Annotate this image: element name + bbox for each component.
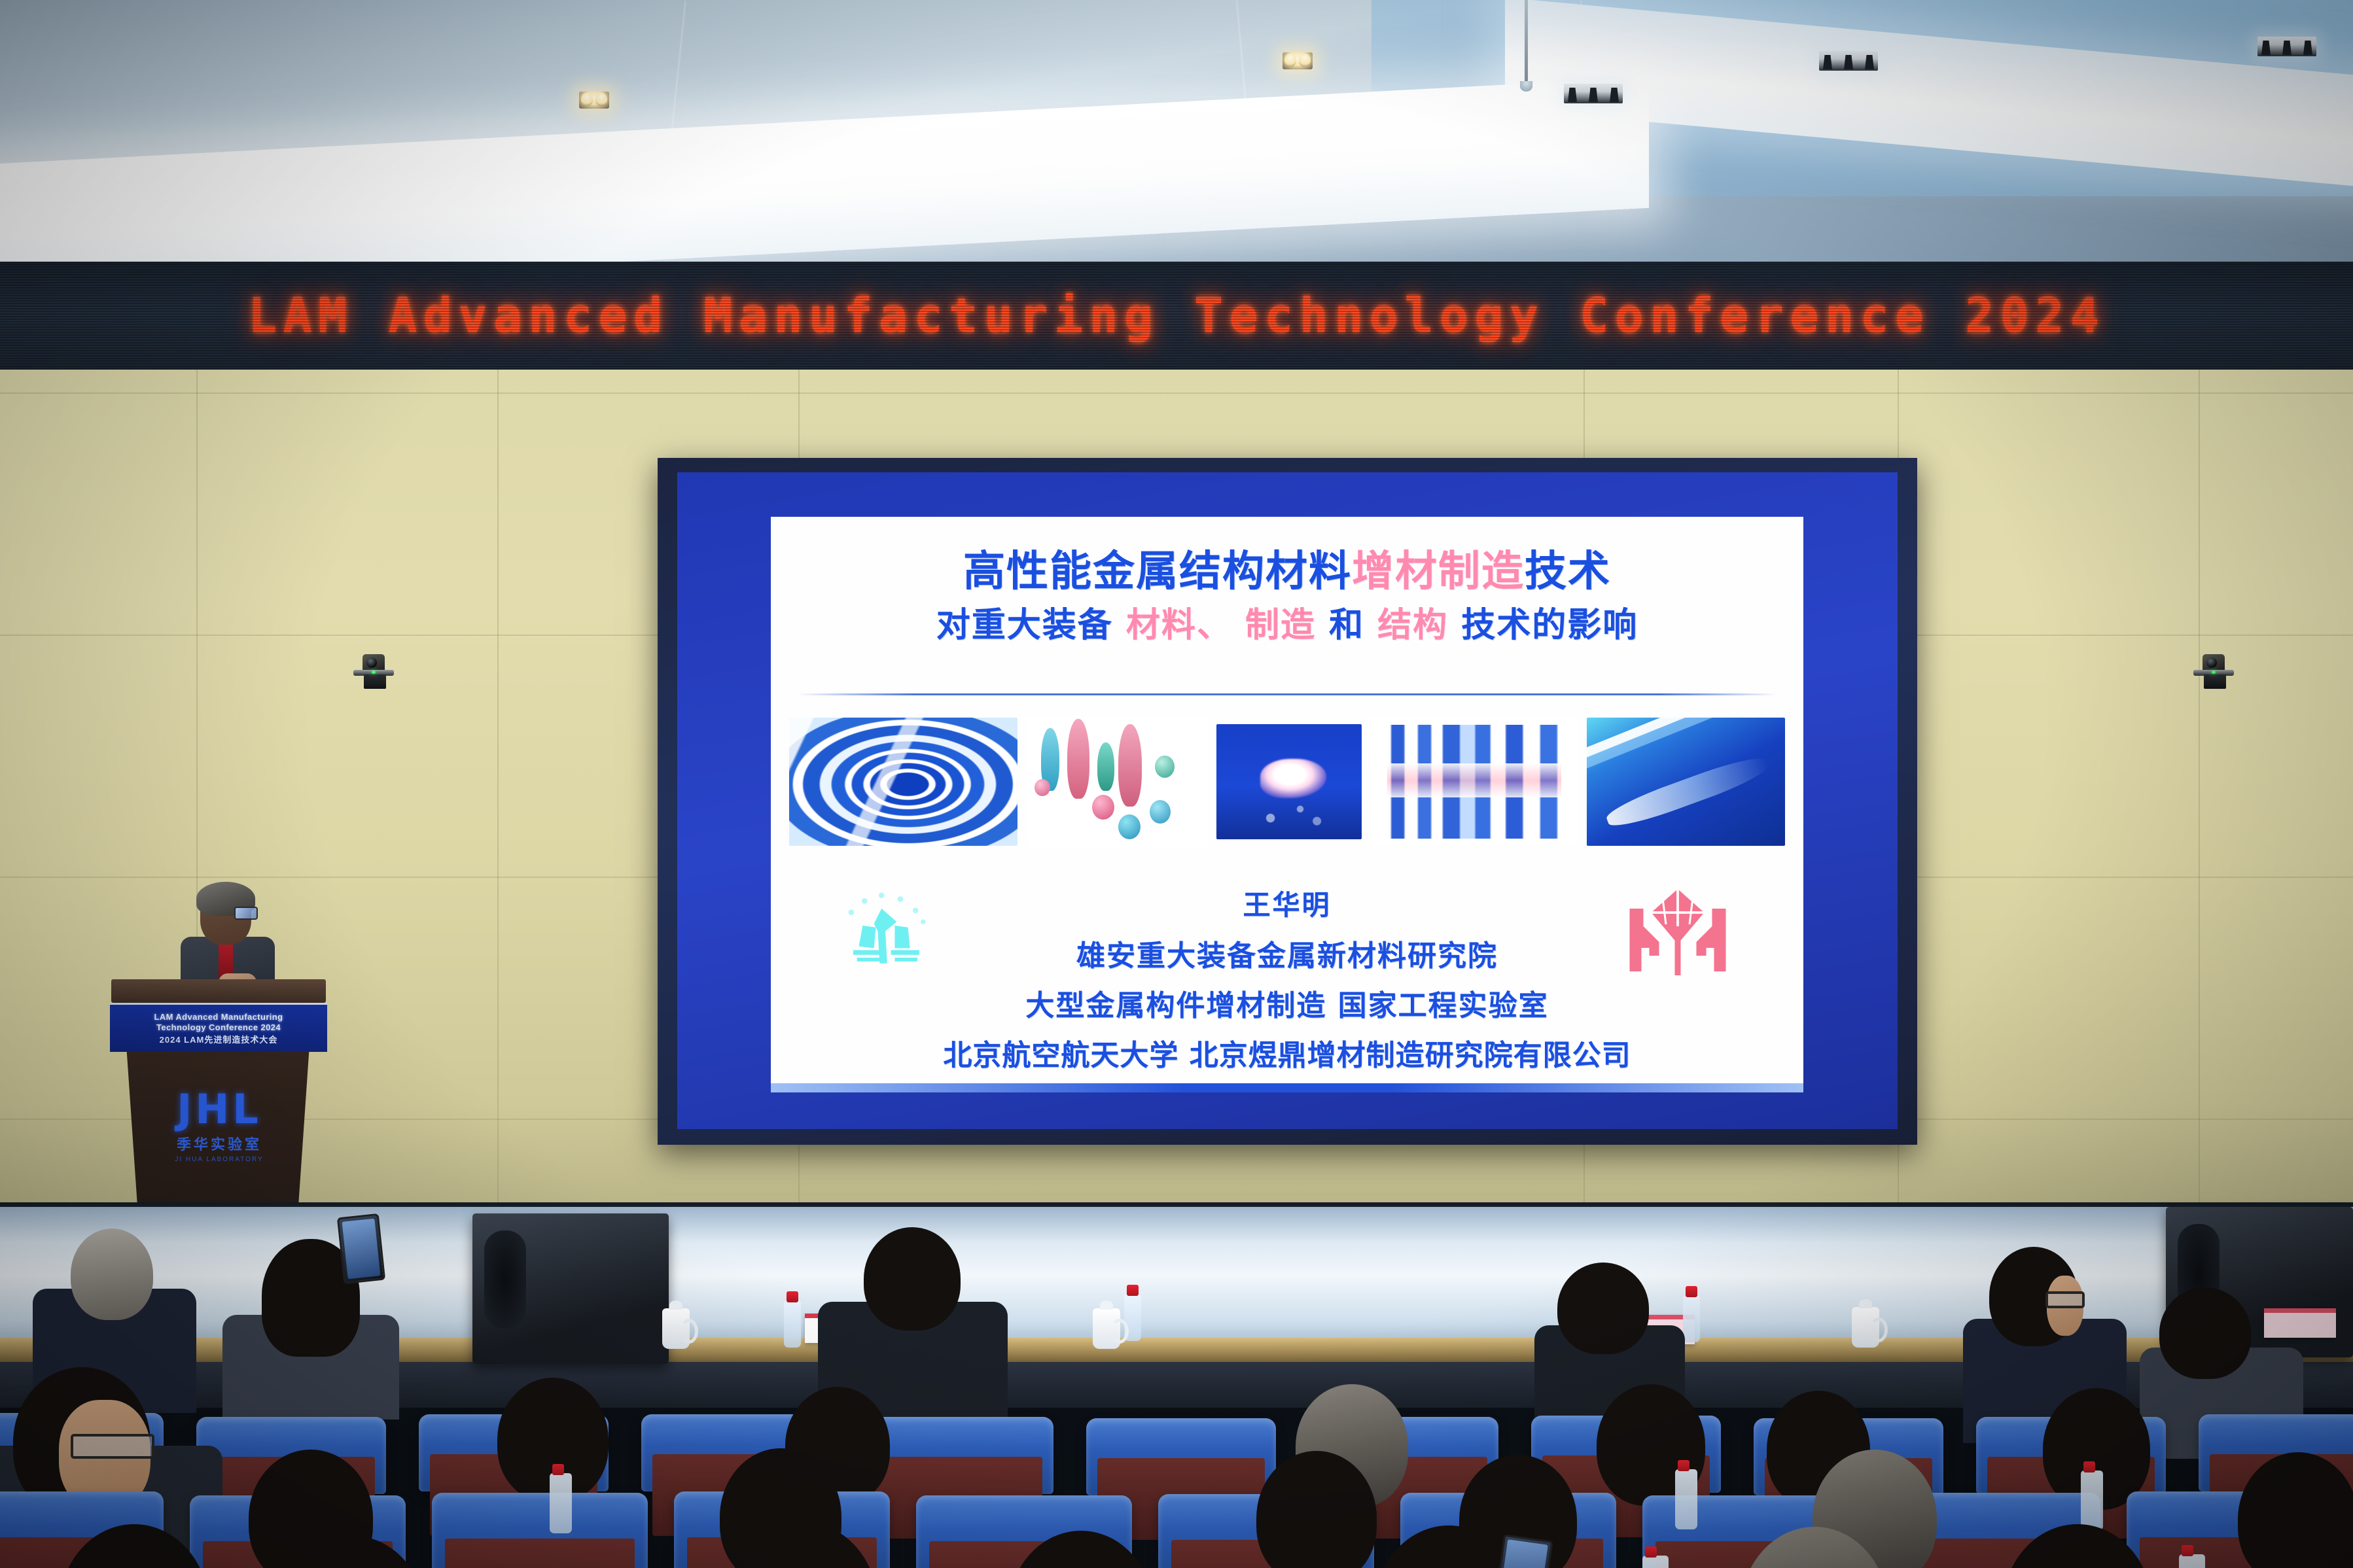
slide-image-row [789,713,1785,850]
ptz-camera-right [2193,654,2234,692]
podium-sign-line-1: LAM Advanced Manufacturing [154,1012,283,1022]
water-bottle [1642,1556,1669,1568]
ceiling-downlight [1283,52,1313,69]
title-segment: 对重大装备 [936,606,1113,645]
auditorium-seat [1086,1418,1276,1495]
led-banner-text: LAM Advanced Manufacturing Technology Co… [248,288,2105,344]
affiliation-line-2: 大型金属构件增材制造 国家工程实验室 [771,982,1803,1024]
camera-status-led [372,671,376,674]
presenter-at-podium [178,884,276,992]
affiliation-line-3: 北京航空航天大学 北京煜鼎增材制造研究院有限公司 [771,1032,1803,1073]
ceiling-spotlight-cluster [2257,37,2316,56]
ceiling-spotlight-cluster [1564,84,1623,103]
wall-panel-seam [0,392,2353,394]
pendant-bulb [1520,81,1532,92]
attendee-head [864,1227,961,1331]
wall-panel-seam [2199,268,2200,1217]
title-segment: 增材制造 [1352,548,1525,596]
title-segment: 技术的影响 [1448,606,1638,645]
ptz-camera-left [353,654,394,692]
podium-sign-line-3: 2024 LAM先进制造技术大会 [160,1033,278,1045]
laser-deposition-photo [1216,724,1361,839]
camera-lens-icon [366,657,377,668]
auditorium-seat [432,1493,648,1568]
slide-title: 高性能金属结构材料增材制造技术 对重大装备 材料、 制造 和 结构 技术的影响 [771,551,1803,644]
ceiling [0,0,2353,281]
water-bottle [2081,1471,2103,1531]
affiliation-line-1: 雄安重大装备金属新材料研究院 [771,932,1803,974]
title-segment: 制造 [1232,606,1316,645]
led-banner: LAM Advanced Manufacturing Technology Co… [0,262,2353,370]
podium-brand-abbr: JHL [150,1089,288,1130]
podium-brand-en: JI HUA LABORATORY [150,1156,288,1163]
slide-divider [797,693,1777,695]
title-segment: 材料、 [1113,606,1232,645]
attendee-glasses [2045,1291,2085,1308]
slide-title-line-1: 高性能金属结构材料增材制造技术 [771,551,1803,593]
title-segment: 结构 [1364,606,1448,645]
naval-vessel-photo [1587,718,1785,846]
wall-panel-seam [497,268,499,1217]
ceiling-downlight [579,92,609,109]
title-segment: 技术 [1525,548,1611,596]
podium-brand-logo: JHL 季华实验室 JI HUA LABORATORY [150,1089,288,1163]
attendee-phone [337,1213,385,1284]
auditorium-seat [864,1417,1053,1494]
aero-engine-photo [1371,717,1578,846]
camera-status-led [2212,671,2216,674]
attendee-glasses [71,1434,154,1459]
conference-hall-photo: LAM Advanced Manufacturing Technology Co… [0,0,2353,1568]
slide-title-line-2: 对重大装备 材料、 制造 和 结构 技术的影响 [771,608,1803,644]
ceiling-hanging-rod [1525,0,1528,84]
presenter-name: 王华明 [771,883,1803,923]
ceiling-spotlight-cluster [1819,51,1878,71]
slide-bottom-bar [771,1083,1803,1092]
audience-area [0,1263,2353,1568]
slide-footer: 王华明 雄安重大装备金属新材料研究院 大型金属构件增材制造 国家工程实验室 北京… [771,883,1803,1073]
seat-back [445,1539,635,1568]
presenter-glasses [234,907,258,920]
water-bottle [550,1473,572,1533]
camera-lens-icon [2206,657,2217,668]
presentation-slide: 高性能金属结构材料增材制造技术 对重大装备 材料、 制造 和 结构 技术的影响 [771,517,1803,1092]
attendee-head [2159,1287,2251,1379]
water-bottle [1675,1469,1697,1529]
title-segment: 和 [1316,606,1364,645]
podium-sign-line-2: Technology Conference 2024 [156,1022,281,1032]
camera-bracket [2204,674,2226,689]
title-segment: 高性能金属结构材料 [963,548,1352,596]
podium-top-surface [111,979,326,1003]
podium-sign: LAM Advanced Manufacturing Technology Co… [110,1003,327,1052]
attendee-head [71,1228,153,1320]
camera-bracket [364,674,386,689]
turbine-engine-photo [789,718,1017,846]
podium-brand-cn: 季华实验室 [150,1133,288,1154]
metal-powder-render [1027,716,1208,847]
attendee-head [1557,1263,1649,1354]
water-bottle [2179,1554,2205,1568]
